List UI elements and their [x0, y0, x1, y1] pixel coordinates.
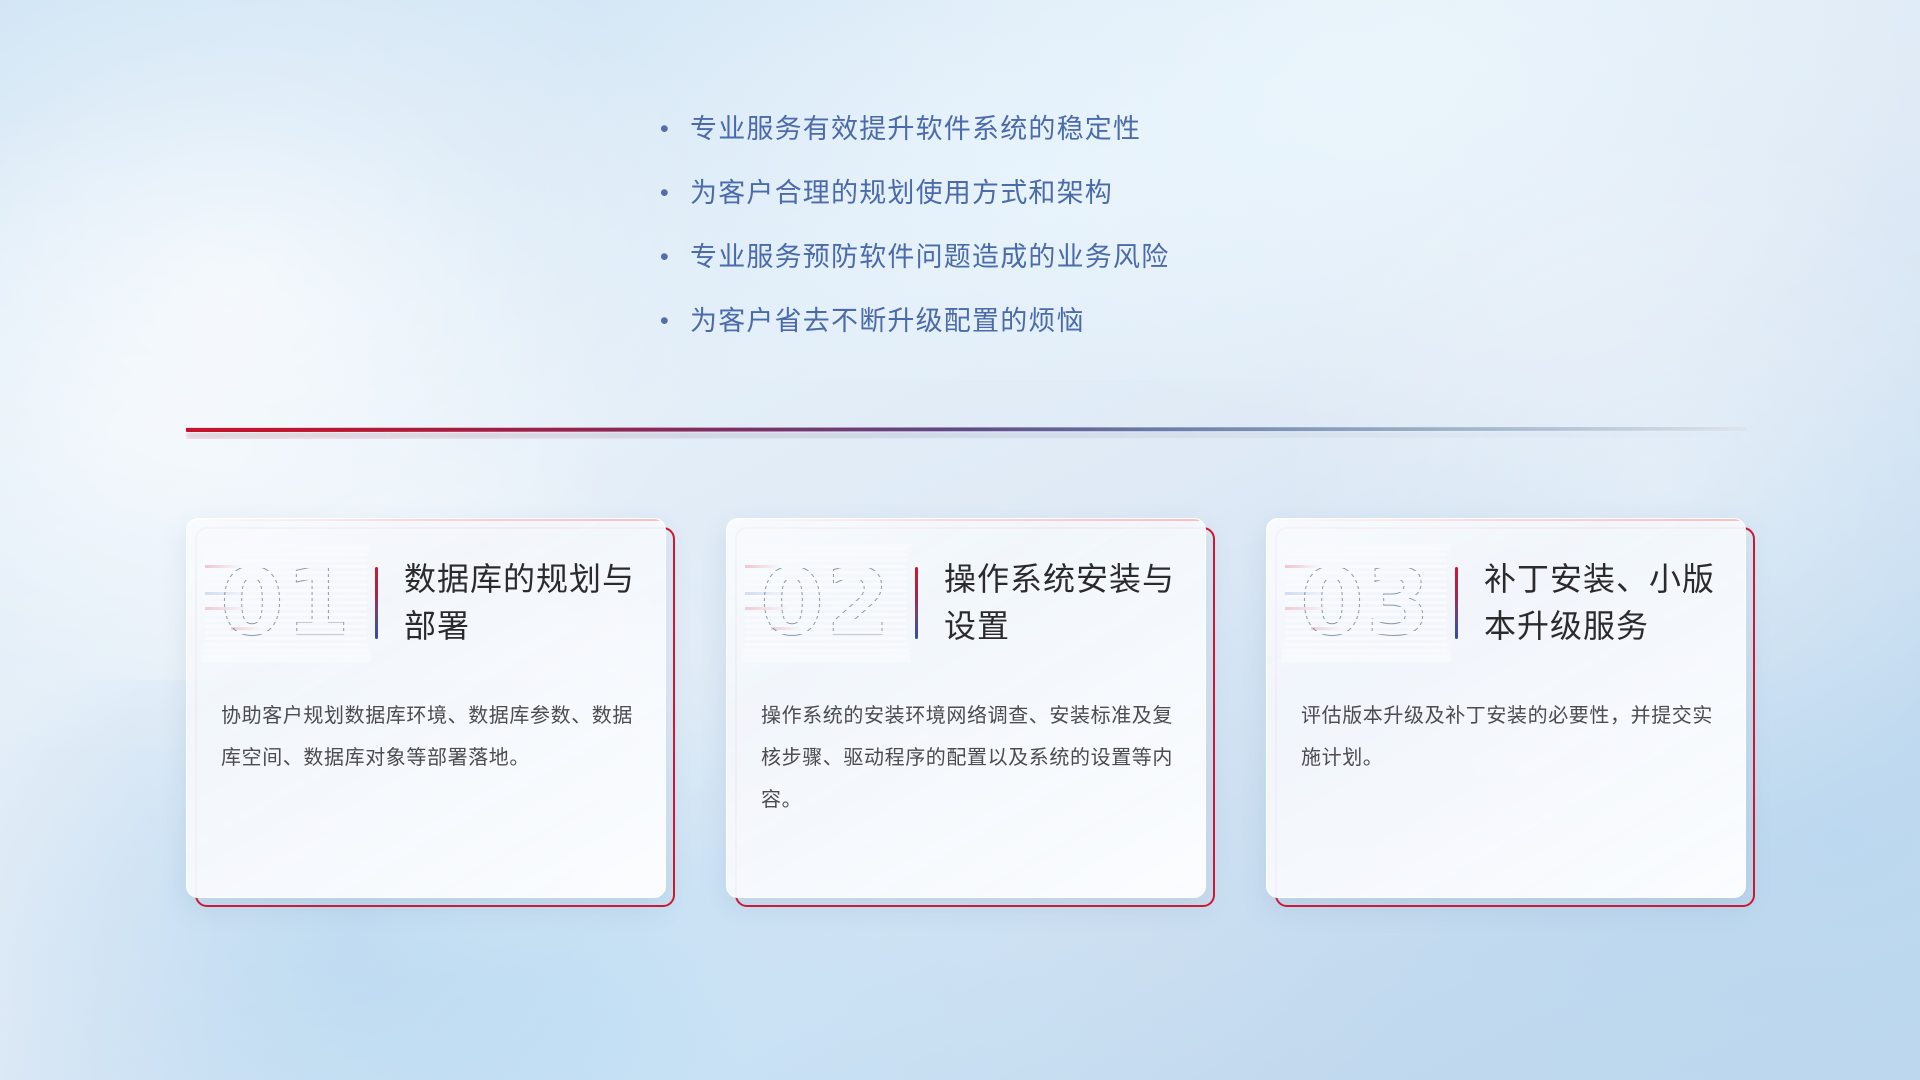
slide-canvas: • 专业服务有效提升软件系统的稳定性 • 为客户合理的规划使用方式和架构 • 专…	[0, 0, 1920, 1080]
list-item: • 为客户合理的规划使用方式和架构	[660, 172, 1400, 214]
card-number-badge: 01	[211, 544, 361, 662]
bullet-dot-icon: •	[660, 172, 690, 214]
card-number-text: 01	[220, 544, 352, 662]
list-item: • 专业服务有效提升软件系统的稳定性	[660, 108, 1400, 150]
card-row: 01 数据库的规划与部署 协助客户规划数据库环境、数据库参数、数据库空间、数据库…	[186, 518, 1746, 908]
section-divider	[186, 424, 1746, 440]
bullet-dot-icon: •	[660, 108, 690, 150]
bullet-text: 专业服务预防软件问题造成的业务风险	[690, 236, 1169, 278]
card-header: 02 操作系统安装与设置	[727, 533, 1205, 673]
card-header: 01 数据库的规划与部署	[187, 533, 665, 673]
divider-shadow	[186, 432, 1746, 439]
bullet-text: 为客户省去不断升级配置的烦恼	[690, 300, 1085, 342]
card-description: 协助客户规划数据库环境、数据库参数、数据库空间、数据库对象等部署落地。	[221, 695, 635, 779]
card-title-rule	[1455, 567, 1458, 639]
service-card-02[interactable]: 02 操作系统安装与设置 操作系统的安装环境网络调查、安装标准及复核步骤、驱动程…	[726, 518, 1206, 898]
card-number-badge: 03	[1291, 544, 1441, 662]
bullet-dot-icon: •	[660, 300, 690, 342]
card-description: 操作系统的安装环境网络调查、安装标准及复核步骤、驱动程序的配置以及系统的设置等内…	[761, 695, 1175, 821]
card-title: 补丁安装、小版本升级服务	[1484, 556, 1745, 650]
card-top-highlight	[727, 519, 1205, 521]
card-body: 02 操作系统安装与设置 操作系统的安装环境网络调查、安装标准及复核步骤、驱动程…	[726, 518, 1206, 898]
card-body: 03 补丁安装、小版本升级服务 评估版本升级及补丁安装的必要性，并提交实施计划。	[1266, 518, 1746, 898]
list-item: • 专业服务预防软件问题造成的业务风险	[660, 236, 1400, 278]
bullet-dot-icon: •	[660, 236, 690, 278]
card-title: 操作系统安装与设置	[944, 556, 1205, 650]
divider-line	[186, 427, 1746, 432]
card-title-rule	[915, 567, 918, 639]
service-card-01[interactable]: 01 数据库的规划与部署 协助客户规划数据库环境、数据库参数、数据库空间、数据库…	[186, 518, 666, 898]
card-number-badge: 02	[751, 544, 901, 662]
card-number-text: 03	[1300, 544, 1432, 662]
card-top-highlight	[187, 519, 665, 521]
bullet-list: • 专业服务有效提升软件系统的稳定性 • 为客户合理的规划使用方式和架构 • 专…	[660, 108, 1400, 364]
card-body: 01 数据库的规划与部署 协助客户规划数据库环境、数据库参数、数据库空间、数据库…	[186, 518, 666, 898]
card-title: 数据库的规划与部署	[404, 556, 665, 650]
card-title-rule	[375, 567, 378, 639]
card-description: 评估版本升级及补丁安装的必要性，并提交实施计划。	[1301, 695, 1715, 779]
bullet-text: 为客户合理的规划使用方式和架构	[690, 172, 1113, 214]
card-header: 03 补丁安装、小版本升级服务	[1267, 533, 1745, 673]
card-number-text: 02	[760, 544, 892, 662]
list-item: • 为客户省去不断升级配置的烦恼	[660, 300, 1400, 342]
bullet-text: 专业服务有效提升软件系统的稳定性	[690, 108, 1141, 150]
card-top-highlight	[1267, 519, 1745, 521]
service-card-03[interactable]: 03 补丁安装、小版本升级服务 评估版本升级及补丁安装的必要性，并提交实施计划。	[1266, 518, 1746, 898]
